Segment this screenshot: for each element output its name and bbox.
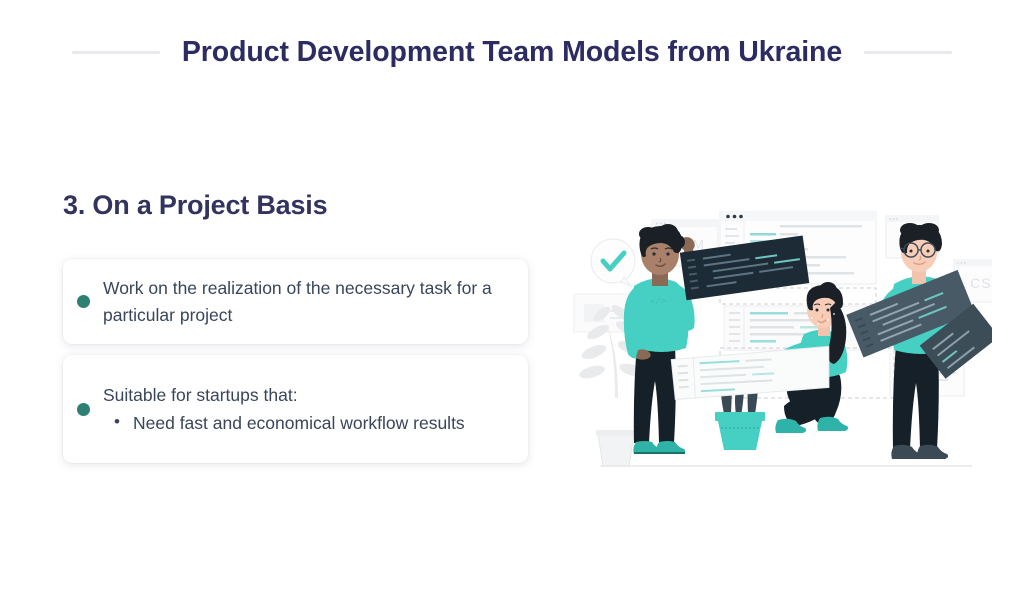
bullet-card-1-text: Work on the realization of the necessary… xyxy=(103,275,510,328)
title-rule-left xyxy=(72,51,160,54)
bullet-card-2-text: Suitable for startups that: xyxy=(103,382,465,409)
plant-pot xyxy=(596,430,636,466)
bullet-dot-icon xyxy=(77,295,90,308)
bullet-card-2-sublist: Need fast and economical workflow result… xyxy=(103,410,465,437)
section-heading: 3. On a Project Basis xyxy=(63,190,327,221)
svg-text:</>: </> xyxy=(650,297,666,307)
bullet-card-2-body: Suitable for startups that: Need fast an… xyxy=(103,382,465,436)
bullet-card-1-body: Work on the realization of the necessary… xyxy=(103,275,510,328)
team-coding-illustration: HTLM </> CSS xyxy=(572,192,992,480)
bullet-dot-icon xyxy=(77,403,90,416)
title-row: Product Development Team Models from Ukr… xyxy=(0,36,1024,69)
svg-text:CSS: CSS xyxy=(970,275,992,291)
bullet-card-2: Suitable for startups that: Need fast an… xyxy=(63,355,528,463)
slide-root: Product Development Team Models from Ukr… xyxy=(0,0,1024,599)
title-rule-right xyxy=(864,51,952,54)
speech-bubble-check-icon xyxy=(591,239,635,286)
list-item: Need fast and economical workflow result… xyxy=(103,410,465,437)
page-title: Product Development Team Models from Ukr… xyxy=(182,36,842,69)
bullet-card-1: Work on the realization of the necessary… xyxy=(63,259,528,344)
